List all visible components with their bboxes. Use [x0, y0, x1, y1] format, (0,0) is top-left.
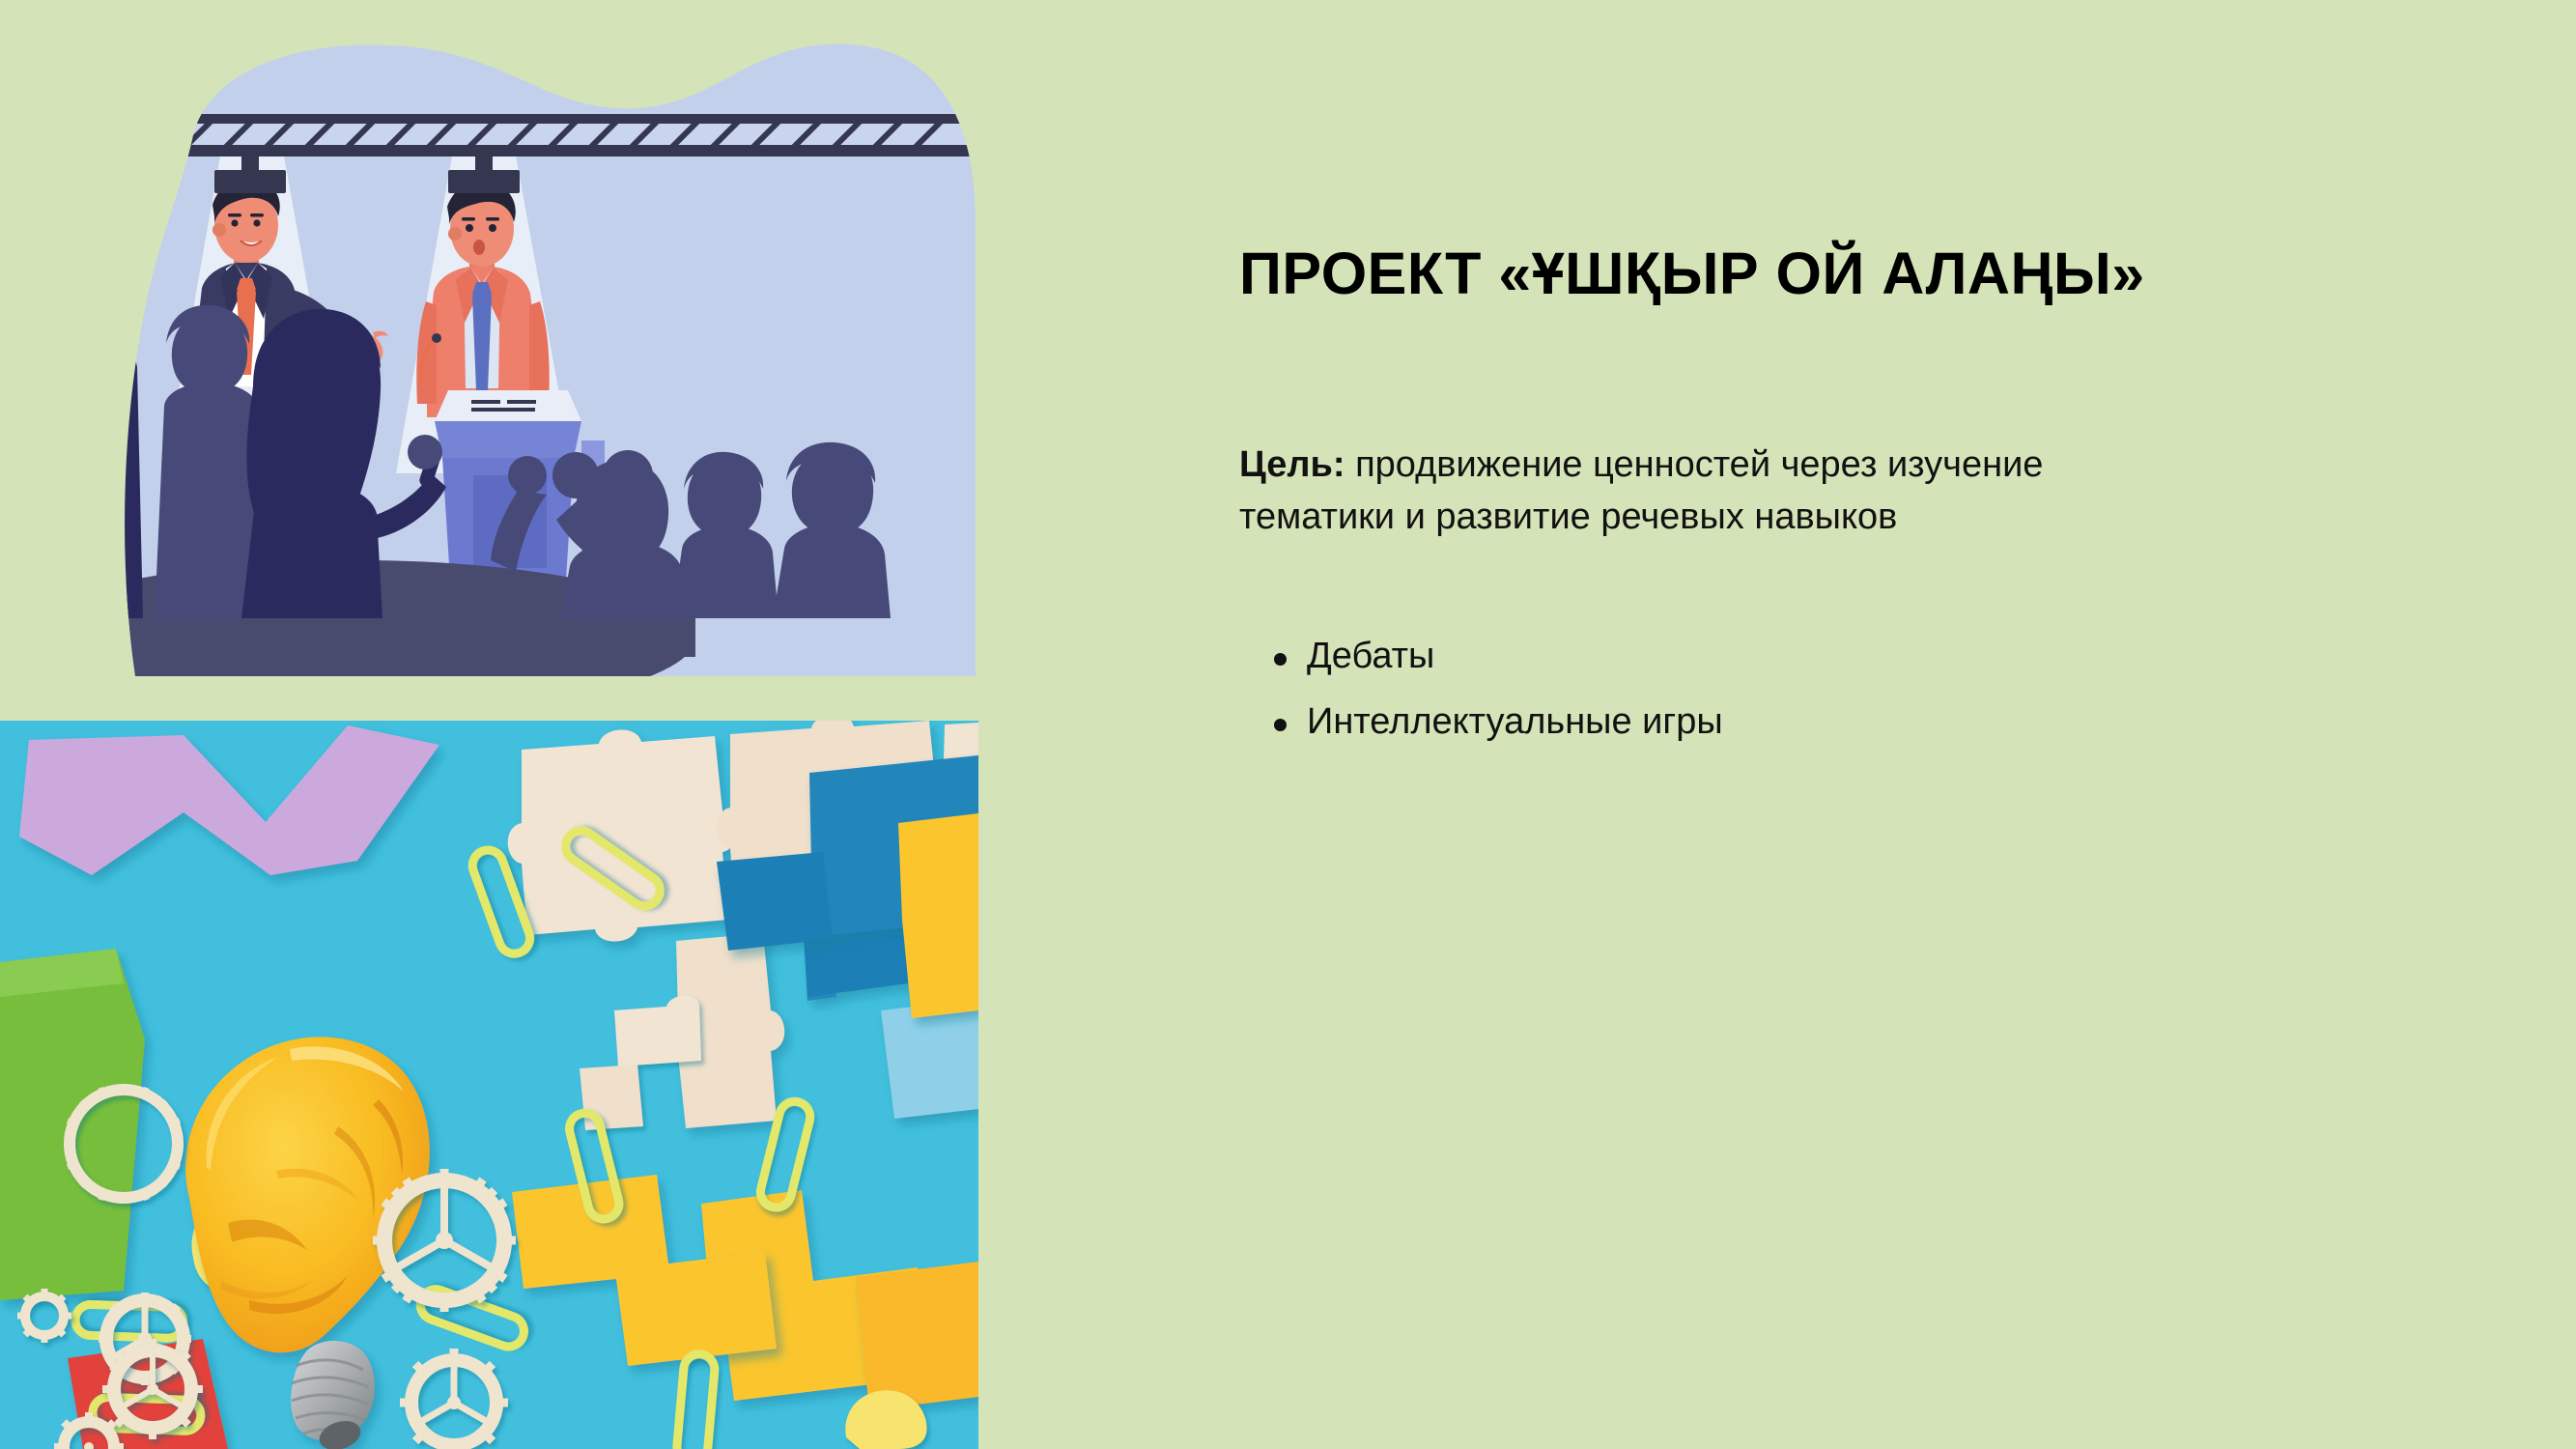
goal-label: Цель: [1239, 444, 1345, 485]
list-item: Дебаты [1259, 638, 2224, 674]
block-yellow-small [856, 1262, 978, 1410]
audience-person-1 [42, 267, 143, 618]
block-yellow-top [898, 813, 978, 1018]
illustration-blob-shape [0, 0, 976, 705]
goal-text: продвижение ценностей через изучение тем… [1239, 444, 2043, 537]
puzzle-lightbulb-flatlay-photo [0, 721, 978, 1449]
list-item-label: Дебаты [1307, 636, 1434, 676]
list-item-label: Интеллектуальные игры [1307, 701, 1723, 742]
block-lightblue [881, 999, 978, 1119]
bullet-dot-icon [1274, 653, 1287, 666]
bullet-list: Дебаты Интеллектуальные игры [1259, 638, 2224, 769]
debate-stage-illustration [0, 0, 976, 705]
list-item: Интеллектуальные игры [1259, 703, 2224, 740]
goal-paragraph: Цель: продвижение ценностей через изучен… [1239, 440, 2089, 544]
slide-root: ПРОЕКТ «ҰШҚЫР ОЙ АЛАҢЫ» Цель: продвижени… [0, 0, 2576, 1449]
text-content-column: ПРОЕКТ «ҰШҚЫР ОЙ АЛАҢЫ» Цель: продвижени… [1239, 0, 2524, 1449]
page-title: ПРОЕКТ «ҰШҚЫР ОЙ АЛАҢЫ» [1239, 240, 2524, 307]
bullet-dot-icon [1274, 719, 1287, 731]
